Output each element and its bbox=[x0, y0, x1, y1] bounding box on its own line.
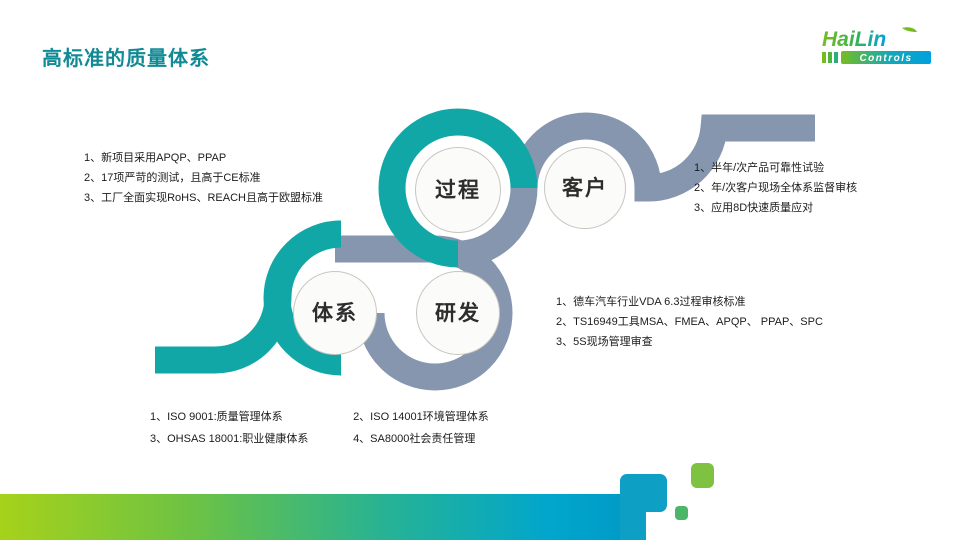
text-cell: 1、ISO 9001:质量管理体系 bbox=[150, 406, 350, 428]
node-customer[interactable]: 客户 bbox=[544, 147, 626, 229]
text-line: 1、新项目采用APQP、PPAP bbox=[84, 148, 323, 168]
slide-canvas: 高标准的质量体系 HaiLin bbox=[0, 0, 960, 540]
leaf-icon bbox=[902, 27, 917, 32]
footer-square-small bbox=[675, 506, 688, 520]
text-line: 3、5S现场管理审查 bbox=[556, 332, 823, 352]
node-process[interactable]: 过程 bbox=[415, 147, 501, 233]
text-line: 3、应用8D快速质量应对 bbox=[694, 198, 857, 218]
footer-band bbox=[0, 494, 646, 540]
node-customer-label: 客户 bbox=[562, 178, 608, 199]
logo-secondary-text: Controls bbox=[859, 53, 912, 64]
footer-decoration bbox=[0, 450, 960, 540]
logo-graphic: HaiLin Controls bbox=[816, 24, 938, 70]
process-ribbon bbox=[0, 0, 960, 540]
text-block-mid-right: 1、德车汽车行业VDA 6.3过程审核标准 2、TS16949工具MSA、FME… bbox=[556, 292, 823, 352]
text-cell: 2、ISO 14001环境管理体系 bbox=[353, 406, 489, 428]
brand-logo: HaiLin Controls bbox=[816, 24, 938, 70]
node-rnd-label: 研发 bbox=[435, 303, 481, 324]
text-block-top-right: 1、半年/次产品可靠性试验 2、年/次客户现场全体系监督审核 3、应用8D快速质… bbox=[694, 158, 857, 218]
page-title: 高标准的质量体系 bbox=[42, 42, 210, 71]
text-block-bottom: 1、ISO 9001:质量管理体系 2、ISO 14001环境管理体系 3、OH… bbox=[150, 406, 489, 450]
footer-square-large bbox=[691, 463, 714, 488]
text-line: 3、工厂全面实现RoHS、REACH且高于欧盟标准 bbox=[84, 188, 323, 208]
footer-step-block bbox=[620, 474, 667, 540]
logo-bar-3 bbox=[834, 52, 838, 63]
logo-bar-2 bbox=[828, 52, 832, 63]
table-row: 3、OHSAS 18001:职业健康体系 4、SA8000社会责任管理 bbox=[150, 428, 489, 450]
text-line: 2、年/次客户现场全体系监督审核 bbox=[694, 178, 857, 198]
text-block-top-left: 1、新项目采用APQP、PPAP 2、17项严苛的测试，且高于CE标准 3、工厂… bbox=[84, 148, 323, 208]
node-system-label: 体系 bbox=[312, 303, 358, 324]
logo-bar-1 bbox=[822, 52, 826, 63]
text-cell: 3、OHSAS 18001:职业健康体系 bbox=[150, 428, 350, 450]
text-cell: 4、SA8000社会责任管理 bbox=[353, 428, 475, 450]
table-row: 1、ISO 9001:质量管理体系 2、ISO 14001环境管理体系 bbox=[150, 406, 489, 428]
node-process-label: 过程 bbox=[435, 180, 481, 201]
logo-primary-text: HaiLin bbox=[822, 28, 886, 51]
node-rnd[interactable]: 研发 bbox=[416, 271, 500, 355]
node-system[interactable]: 体系 bbox=[293, 271, 377, 355]
text-line: 1、德车汽车行业VDA 6.3过程审核标准 bbox=[556, 292, 823, 312]
text-line: 2、17项严苛的测试，且高于CE标准 bbox=[84, 168, 323, 188]
text-line: 2、TS16949工具MSA、FMEA、APQP、 PPAP、SPC bbox=[556, 312, 823, 332]
text-line: 1、半年/次产品可靠性试验 bbox=[694, 158, 857, 178]
